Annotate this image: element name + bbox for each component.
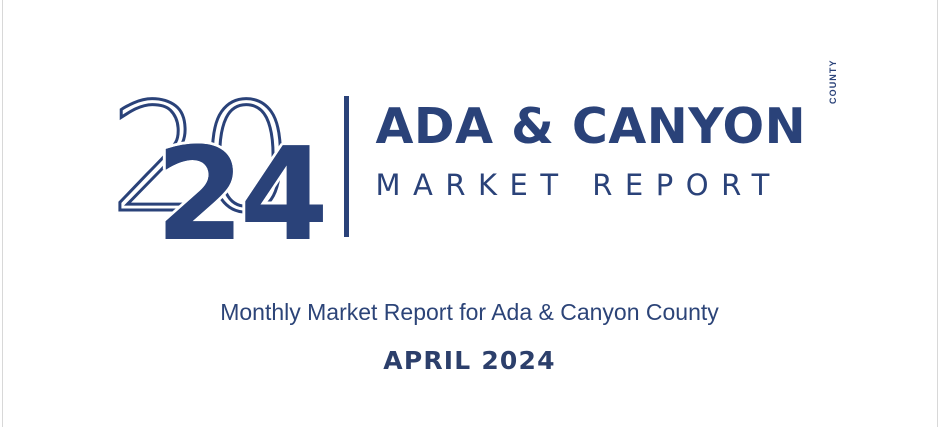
brand-logo-lockup: 20 24 ADA & CANYON COUNTY MARKET REPORT (0, 84, 939, 244)
brand-wordmark: ADA & CANYON COUNTY MARKET REPORT (376, 98, 846, 202)
logo-divider-rule (344, 96, 349, 237)
wordmark-secondary-text: MARKET REPORT (376, 168, 846, 202)
report-date: APRIL 2024 (0, 346, 939, 376)
year-mark-2024: 20 24 (110, 84, 330, 244)
wordmark-primary-text: ADA & CANYON (376, 98, 807, 155)
report-subtitle: Monthly Market Report for Ada & Canyon C… (0, 298, 939, 326)
wordmark-primary-row: ADA & CANYON COUNTY (376, 98, 846, 156)
year-solid-24: 24 (156, 132, 324, 260)
report-cover-page: 20 24 ADA & CANYON COUNTY MARKET REPORT … (0, 0, 939, 427)
brand-logo-inner: 20 24 ADA & CANYON COUNTY MARKET REPORT (110, 84, 830, 244)
county-vertical-label: COUNTY (828, 59, 838, 104)
